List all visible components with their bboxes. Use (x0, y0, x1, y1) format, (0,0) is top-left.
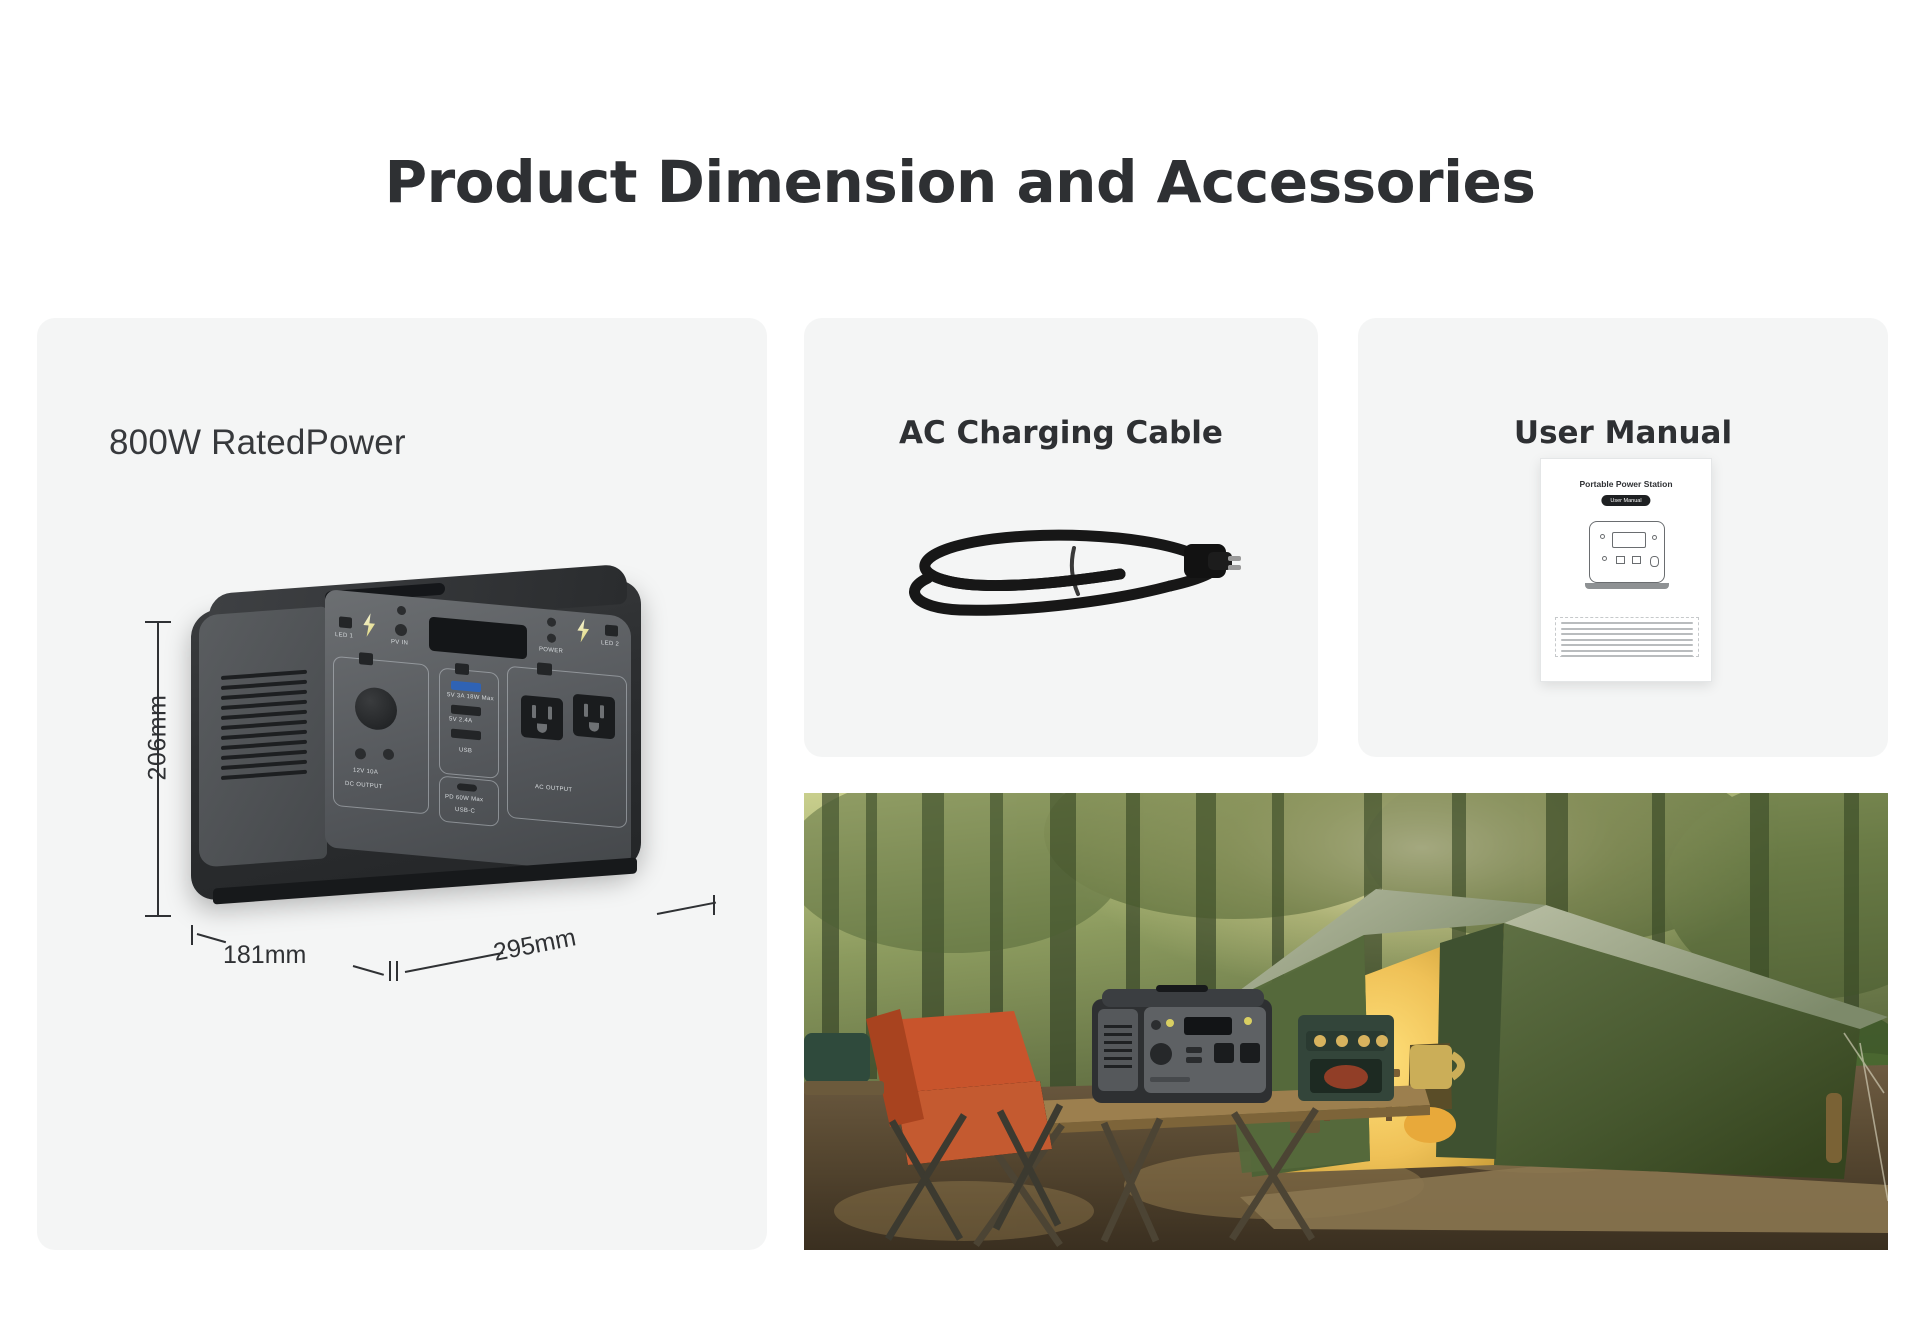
product-dimension-page: Product Dimension and Accessories 800W R… (0, 0, 1920, 1337)
manual-cover-title: Portable Power Station (1541, 479, 1711, 489)
depth-line-b (353, 965, 384, 976)
station-side-panel (199, 606, 327, 867)
ac-cable-svg (888, 508, 1248, 638)
user-manual-cover: Portable Power Station User Manual (1540, 458, 1712, 682)
station-front-panel: LED 1 PV IN POWER LED 2 12V 10A DC OUTPU… (325, 589, 631, 875)
card-ac-charging-cable: AC Charging Cable (804, 318, 1318, 757)
manual-device-screen (1612, 532, 1646, 548)
height-cap-bottom (145, 915, 171, 917)
camping-scene-svg (804, 793, 1888, 1250)
ac-output-group (507, 666, 627, 829)
dc-barrel-1[interactable] (355, 748, 366, 760)
cable-card-title: AC Charging Cable (804, 415, 1318, 451)
led1-label: LED 1 (335, 632, 353, 640)
power-station-on-table (1092, 985, 1272, 1103)
ac-ground-pin-1 (537, 723, 547, 733)
indicator-led-b (547, 617, 556, 627)
manual-device-base (1585, 583, 1669, 589)
dc-barrel-2[interactable] (383, 748, 394, 760)
led2-label: LED 2 (601, 640, 619, 648)
ventilation-grille (221, 670, 307, 788)
manual-text-block (1555, 617, 1699, 657)
indicator-led-a (397, 606, 406, 616)
bolt-icon-right (573, 618, 593, 644)
ac-socket-2[interactable] (573, 694, 615, 740)
dc-output-group (333, 656, 429, 815)
dimension-card-title: 800W RatedPower (37, 423, 767, 463)
page-title: Product Dimension and Accessories (0, 148, 1920, 216)
camp-stove (1298, 1015, 1394, 1101)
width-line-b (657, 902, 716, 915)
height-dimension-label: 206mm (143, 695, 172, 781)
manual-device-led (1600, 534, 1605, 539)
height-cap-top (145, 621, 171, 623)
ac-socket-1[interactable] (521, 695, 563, 741)
bolt-icon-left (359, 612, 379, 638)
manual-cover-badge: User Manual (1601, 495, 1650, 506)
manual-device-port-a (1602, 556, 1607, 561)
depth-line-a (197, 933, 226, 943)
manual-device-drawing (1589, 521, 1665, 583)
card-user-manual: User Manual Portable Power Station User … (1358, 318, 1888, 757)
width-line-a (405, 952, 504, 973)
ac-ground-pin-2 (589, 722, 599, 732)
depth-dimension-label: 181mm (223, 941, 306, 970)
pv-in-label: PV IN (391, 639, 408, 647)
depth-tick-right-2 (396, 961, 398, 981)
manual-device-knob (1652, 535, 1657, 540)
manual-card-title: User Manual (1358, 415, 1888, 451)
power-button[interactable] (547, 633, 556, 643)
pv-in-port (395, 623, 407, 636)
card-product-dimension: 800W RatedPower 206mm (37, 318, 767, 1250)
width-tick-right (713, 895, 715, 915)
ac-group-tab (537, 662, 552, 675)
manual-device-outlet-2 (1632, 556, 1641, 564)
camping-scene-photo (804, 793, 1888, 1250)
depth-tick-left (191, 925, 193, 945)
lcd-display (429, 617, 527, 660)
usb-group-tab (455, 663, 469, 675)
cable-plug (1184, 544, 1241, 578)
depth-tick-right-1 (389, 961, 391, 981)
power-station-illustration: 206mm LED 1 PV IN (157, 573, 717, 973)
ac-cable-image (888, 508, 1248, 638)
dc-group-tab (359, 652, 373, 665)
led2-port (605, 625, 618, 637)
led1-port (339, 616, 352, 628)
manual-device-dc (1650, 556, 1659, 567)
manual-device-outlet-1 (1616, 556, 1625, 564)
power-label: POWER (539, 647, 563, 655)
width-dimension-label: 295mm (491, 923, 578, 967)
usb-label: USB (459, 747, 472, 754)
